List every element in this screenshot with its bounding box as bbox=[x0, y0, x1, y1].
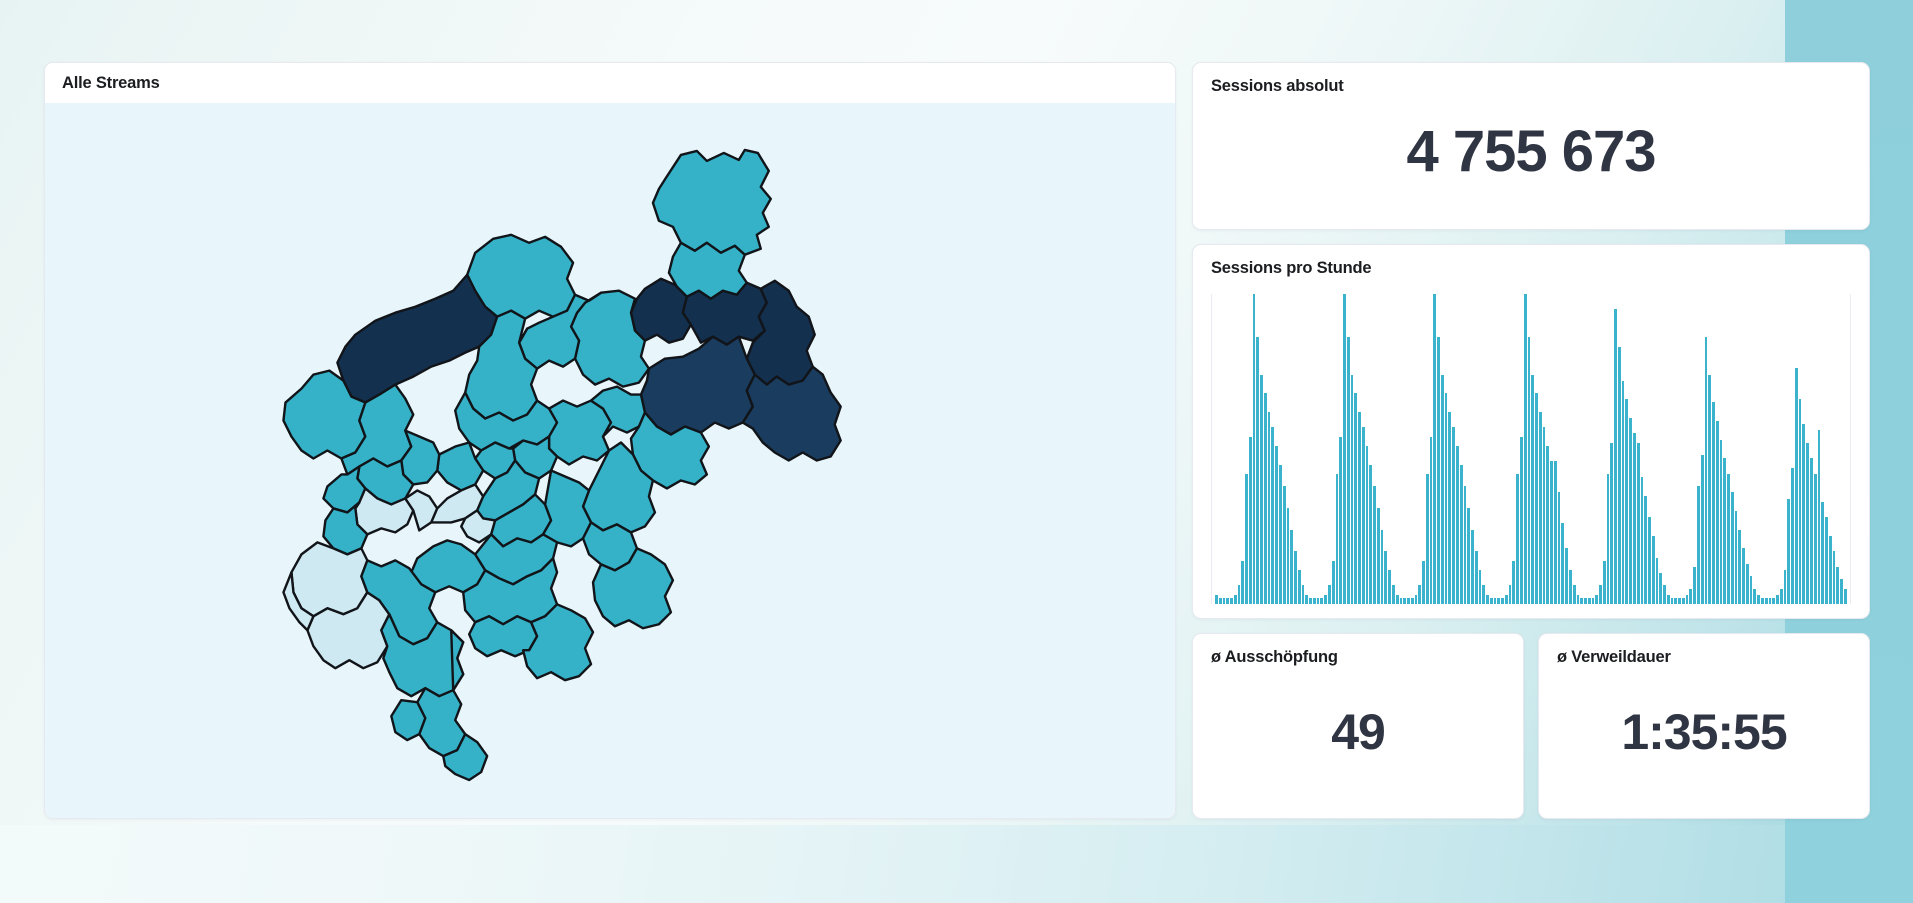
chart-plot-area[interactable] bbox=[1211, 294, 1851, 604]
kpi-ausschoepfung-value: 49 bbox=[1211, 703, 1505, 761]
map-panel-header: Alle Streams bbox=[45, 63, 1175, 103]
map-region-minden-luebbecke[interactable] bbox=[653, 150, 771, 255]
kpi-row-bottom: ø Ausschöpfung 49 ø Verweildauer 1:35:55 bbox=[1192, 633, 1870, 819]
map-region-paderborn[interactable] bbox=[641, 337, 755, 435]
dashboard-root: Alle Streams bbox=[44, 62, 1870, 819]
kpi-sessions-value: 4 755 673 bbox=[1211, 118, 1851, 185]
page-background-band-bottom bbox=[0, 825, 1913, 903]
kpi-card-sessions-absolut: Sessions absolut 4 755 673 bbox=[1192, 62, 1870, 230]
chart-bar bbox=[1844, 589, 1848, 605]
kpi-verweildauer-title: ø Verweildauer bbox=[1557, 648, 1851, 667]
map-panel: Alle Streams bbox=[44, 62, 1176, 819]
kpi-ausschoepfung-title: ø Ausschöpfung bbox=[1211, 648, 1505, 667]
map-region-lippe[interactable] bbox=[683, 283, 767, 345]
map-panel-title: Alle Streams bbox=[62, 74, 160, 93]
map-region-sued-sliver[interactable] bbox=[391, 700, 425, 740]
map-region-unna[interactable] bbox=[549, 401, 611, 465]
kpi-column: Sessions absolut 4 755 673 Sessions pro … bbox=[1192, 62, 1870, 819]
kpi-verweildauer-value: 1:35:55 bbox=[1557, 703, 1851, 761]
map-region-essen[interactable] bbox=[437, 443, 483, 491]
chart-bars-container bbox=[1215, 294, 1847, 604]
map-region-heinsberg[interactable] bbox=[291, 542, 367, 616]
map-canvas[interactable] bbox=[45, 103, 1175, 818]
kpi-card-ausschoepfung: ø Ausschöpfung 49 bbox=[1192, 633, 1524, 819]
kpi-card-verweildauer: ø Verweildauer 1:35:55 bbox=[1538, 633, 1870, 819]
kpi-sessions-title: Sessions absolut bbox=[1211, 77, 1851, 96]
choropleth-map-nrw[interactable] bbox=[45, 103, 1175, 818]
chart-title: Sessions pro Stunde bbox=[1211, 259, 1851, 278]
chart-card-sessions-pro-stunde: Sessions pro Stunde bbox=[1192, 244, 1870, 619]
